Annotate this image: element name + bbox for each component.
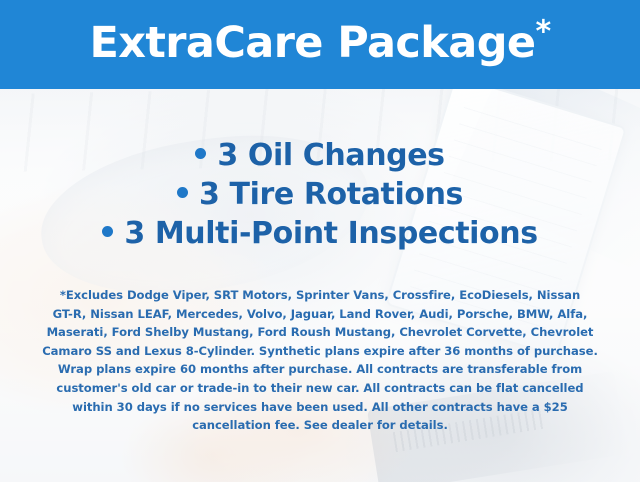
disclaimer-line: *Excludes Dodge Viper, SRT Motors, Sprin… (36, 286, 604, 305)
extracare-package-promo-card: ExtraCare Package* 3 Oil Changes 3 Tire … (0, 0, 640, 482)
disclaimer-line: Camaro SS and Lexus 8-Cylinder. Syntheti… (36, 342, 604, 361)
page-title-text: ExtraCare Package (89, 18, 535, 68)
disclaimer-block: *Excludes Dodge Viper, SRT Motors, Sprin… (36, 286, 604, 435)
disclaimer-line: cancellation fee. See dealer for details… (36, 416, 604, 435)
bullet-dot-icon (102, 226, 113, 237)
list-item: 3 Multi-Point Inspections (0, 214, 640, 253)
page-title: ExtraCare Package* (0, 17, 640, 69)
disclaimer-line: GT-R, Nissan LEAF, Mercedes, Volvo, Jagu… (36, 305, 604, 324)
header-band: ExtraCare Package* (0, 0, 640, 89)
list-item: 3 Oil Changes (0, 136, 640, 175)
bullet-dot-icon (195, 148, 206, 159)
disclaimer-line: Maserati, Ford Shelby Mustang, Ford Rous… (36, 323, 604, 342)
list-item: 3 Tire Rotations (0, 175, 640, 214)
disclaimer-line: within 30 days if no services have been … (36, 398, 604, 417)
disclaimer-line: customer's old car or trade-in to their … (36, 379, 604, 398)
page-title-asterisk: * (535, 15, 550, 50)
bullet-dot-icon (177, 187, 188, 198)
benefits-list: 3 Oil Changes 3 Tire Rotations 3 Multi-P… (0, 136, 640, 253)
benefit-label: 3 Oil Changes (217, 138, 444, 173)
benefit-label: 3 Multi-Point Inspections (124, 216, 537, 251)
benefit-label: 3 Tire Rotations (199, 177, 463, 212)
disclaimer-line: Wrap plans expire 60 months after purcha… (36, 360, 604, 379)
